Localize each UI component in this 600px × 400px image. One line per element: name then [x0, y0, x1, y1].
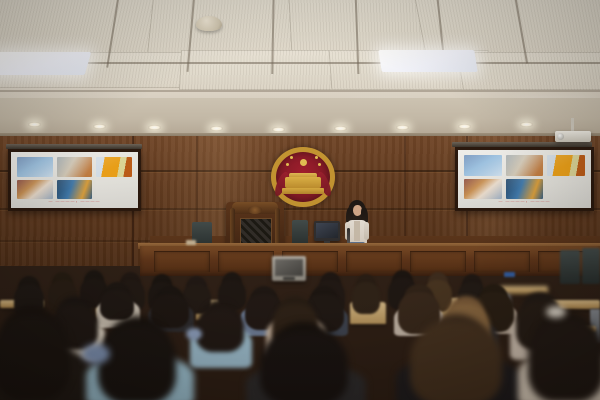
right-projection-screen[interactable]: — ————，———— — [455, 147, 594, 211]
national-emblem — [271, 147, 337, 209]
ceiling-panel-light — [378, 50, 477, 72]
downlight — [93, 124, 106, 129]
presenter-monitor — [314, 221, 340, 241]
bench-rail — [140, 246, 600, 276]
side-chair — [560, 250, 580, 284]
desk-object — [186, 240, 196, 245]
downlight — [272, 127, 285, 132]
downlight — [458, 124, 471, 129]
photo-scene: — ————，———— — ————，———— — [0, 0, 600, 400]
ceiling-panel-light — [0, 52, 91, 75]
left-projection-screen[interactable]: — ————，———— — [8, 149, 141, 211]
downlight — [28, 122, 41, 127]
smoke-detector-icon — [196, 16, 222, 31]
downlight — [210, 126, 223, 131]
downlight — [396, 125, 409, 130]
projector-lens-icon — [557, 133, 564, 140]
downlight — [148, 125, 161, 130]
downlight — [520, 122, 533, 127]
microphone — [347, 228, 350, 244]
projector-mount-pole — [571, 118, 574, 132]
downlight — [334, 126, 347, 131]
side-chair — [582, 248, 600, 284]
ceiling-soffit — [0, 98, 600, 136]
blue-book — [504, 272, 515, 277]
crt-monitor — [272, 256, 306, 281]
